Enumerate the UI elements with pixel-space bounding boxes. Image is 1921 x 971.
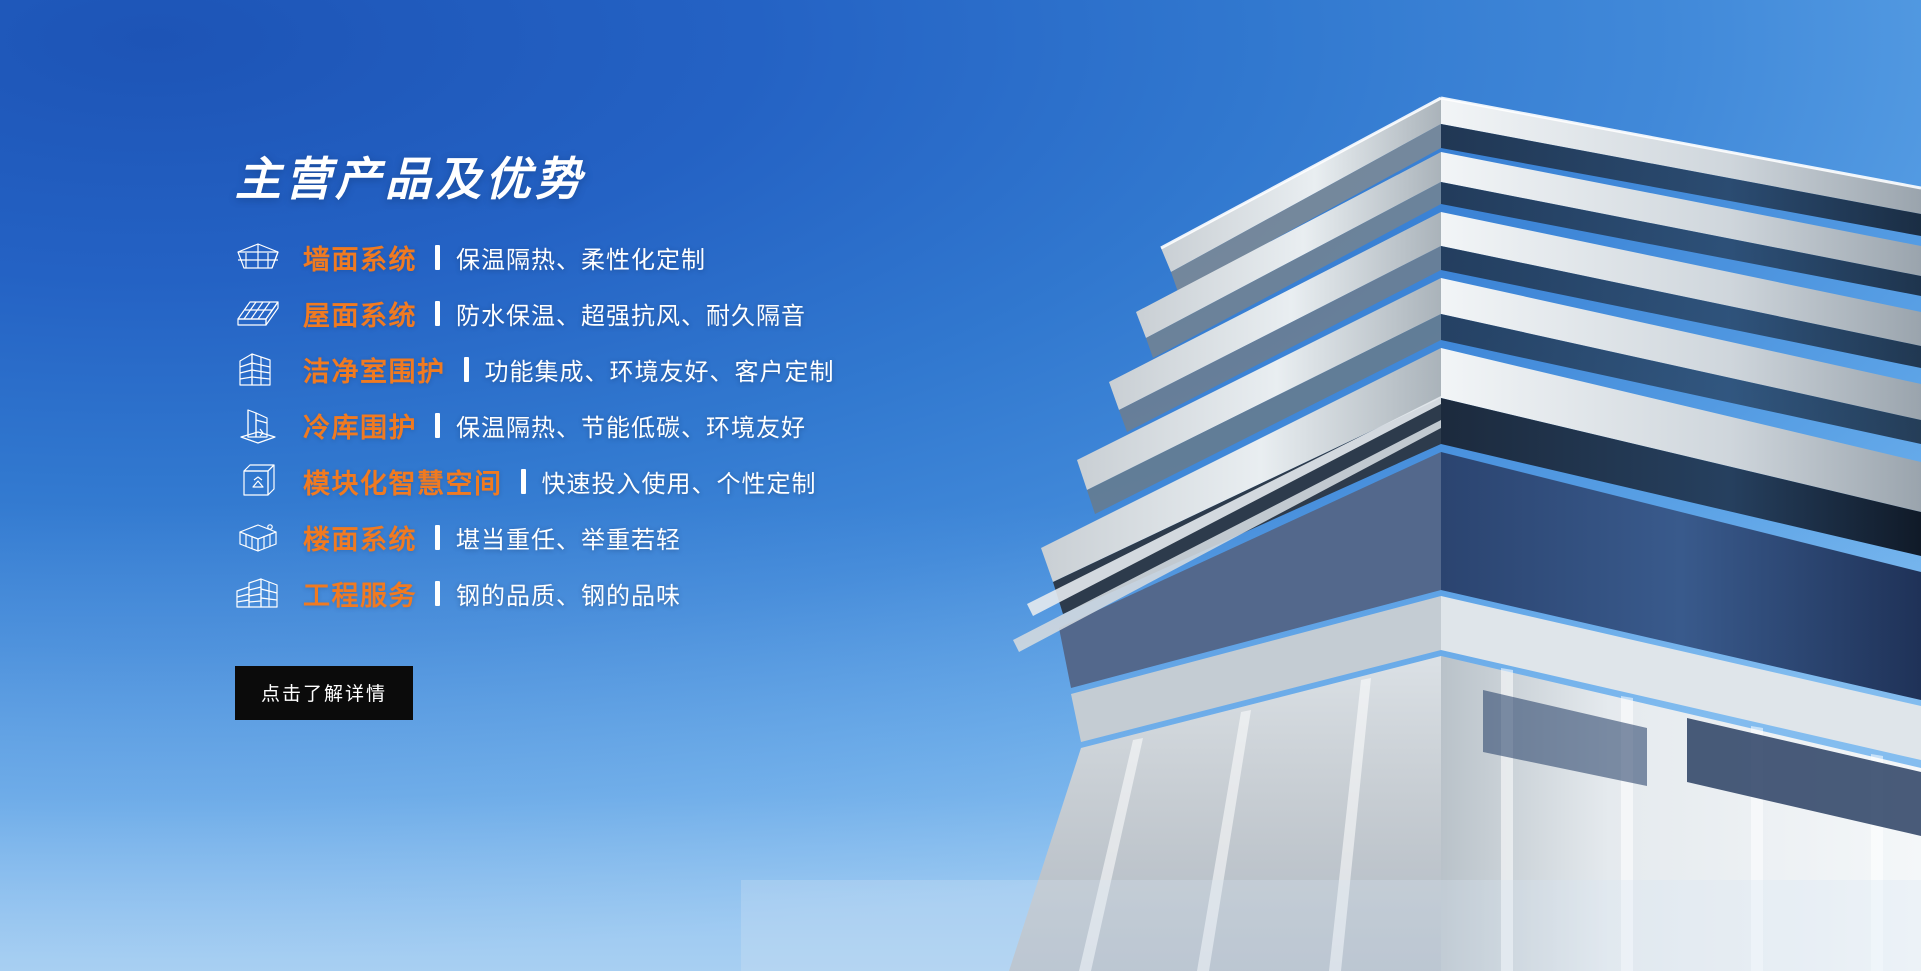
product-desc: 钢的品质、钢的品味: [456, 576, 681, 611]
hero-banner: 主营产品及优势 墙面系统 保温隔热、柔性化定制: [0, 0, 1921, 971]
list-item[interactable]: 洁净室围护 功能集成、环境友好、客户定制: [235, 342, 1235, 398]
product-label: 模块化智慧空间: [303, 462, 503, 501]
product-desc: 保温隔热、节能低碳、环境友好: [456, 408, 806, 443]
list-item[interactable]: 模块化智慧空间 快速投入使用、个性定制: [235, 454, 1235, 510]
product-desc: 快速投入使用、个性定制: [542, 464, 817, 499]
divider: [435, 525, 440, 550]
wall-system-icon: [235, 238, 281, 278]
learn-more-button[interactable]: 点击了解详情: [235, 666, 413, 720]
floor-system-icon: [235, 518, 281, 558]
list-item[interactable]: 冷库围护 保温隔热、节能低碳、环境友好: [235, 398, 1235, 454]
product-label: 楼面系统: [303, 518, 417, 557]
product-label: 墙面系统: [303, 238, 417, 277]
divider: [464, 357, 469, 382]
divider: [521, 469, 526, 494]
list-item[interactable]: 墙面系统 保温隔热、柔性化定制: [235, 230, 1235, 286]
divider: [435, 581, 440, 606]
product-desc: 保温隔热、柔性化定制: [456, 240, 706, 275]
engineering-icon: [235, 574, 281, 614]
coldstorage-icon: [235, 406, 281, 446]
list-item[interactable]: 楼面系统 堪当重任、举重若轻: [235, 510, 1235, 566]
product-desc: 堪当重任、举重若轻: [456, 520, 681, 555]
cleanroom-icon: [235, 350, 281, 390]
cta-container: 点击了解详情: [235, 666, 1235, 720]
divider: [435, 245, 440, 270]
divider: [435, 301, 440, 326]
product-desc: 功能集成、环境友好、客户定制: [485, 352, 835, 387]
modular-space-icon: [235, 462, 281, 502]
product-desc: 防水保温、超强抗风、耐久隔音: [456, 296, 806, 331]
product-label: 洁净室围护: [303, 350, 446, 389]
roof-system-icon: [235, 294, 281, 334]
list-item[interactable]: 屋面系统 防水保温、超强抗风、耐久隔音: [235, 286, 1235, 342]
product-label: 冷库围护: [303, 406, 417, 445]
list-item[interactable]: 工程服务 钢的品质、钢的品味: [235, 566, 1235, 622]
product-label: 工程服务: [303, 574, 417, 613]
banner-content: 主营产品及优势 墙面系统 保温隔热、柔性化定制: [235, 155, 1235, 720]
product-label: 屋面系统: [303, 294, 417, 333]
product-list: 墙面系统 保温隔热、柔性化定制 屋面系统: [235, 230, 1235, 622]
divider: [435, 413, 440, 438]
page-title: 主营产品及优势: [235, 155, 1235, 204]
